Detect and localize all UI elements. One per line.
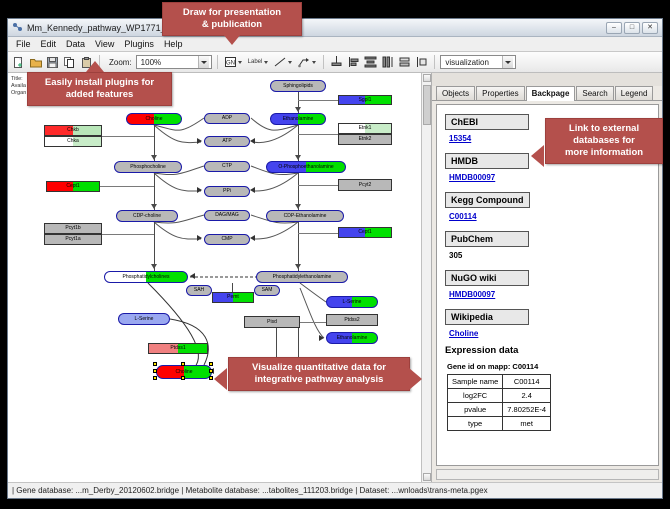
- db-section-title-wikipedia: Wikipedia: [445, 309, 529, 325]
- node-label: L-Serine: [343, 300, 362, 305]
- zoom-value: 100%: [139, 58, 198, 67]
- selection-handle[interactable]: [209, 362, 213, 366]
- arrow-pemt-to-pc: [190, 273, 195, 279]
- gene-node-pcyt1b[interactable]: Pcyt1b: [44, 223, 102, 234]
- arrow-from-cmp-right: [250, 235, 255, 241]
- expression-data-heading: Expression data: [445, 345, 650, 356]
- selection-handle[interactable]: [209, 376, 213, 380]
- group-icon[interactable]: [414, 55, 429, 70]
- node-label: Cept1: [358, 230, 371, 235]
- node-label: Pcyt1b: [65, 226, 80, 231]
- node-label: Choline: [176, 370, 193, 375]
- node-label: SAH: [194, 288, 204, 293]
- arrow-to-cmp: [197, 235, 202, 241]
- node-label: O-Phosphoethanolamine: [278, 165, 333, 170]
- arrow-to-ethanolamine-bottom: [319, 335, 324, 341]
- metabolite-node-cdp-ethanolamine[interactable]: CDP-Ethanolamine: [266, 210, 344, 222]
- db-link-wikipedia[interactable]: Choline: [449, 329, 650, 338]
- distribute-icon[interactable]: [363, 55, 378, 70]
- align-left-icon[interactable]: [346, 55, 361, 70]
- tab-search[interactable]: Search: [576, 86, 613, 100]
- connector-pisd: [300, 322, 326, 323]
- tab-legend[interactable]: Legend: [615, 86, 654, 100]
- node-label: SAM: [262, 288, 273, 293]
- arrow-to-ethanolamine: [295, 107, 301, 112]
- menu-item-file[interactable]: File: [11, 38, 36, 50]
- menu-item-help[interactable]: Help: [159, 38, 188, 50]
- node-label: Phosphocholine: [130, 165, 166, 170]
- db-link-nugo-wiki[interactable]: HMDB00097: [449, 290, 650, 299]
- status-text: | Gene database: ...m_Derby_20120602.bri…: [12, 486, 488, 495]
- close-button[interactable]: ✕: [642, 22, 658, 34]
- db-section-title-pubchem: PubChem: [445, 231, 529, 247]
- db-section-title-chebi: ChEBI: [445, 114, 529, 130]
- selection-handle[interactable]: [153, 362, 157, 366]
- db-section-title-kegg-compound: Kegg Compound: [445, 192, 530, 208]
- status-bar: | Gene database: ...m_Derby_20120602.bri…: [8, 482, 662, 498]
- node-label: Choline: [146, 117, 163, 122]
- node-label: Phosphatidylcholines: [123, 275, 170, 280]
- menu-item-data[interactable]: Data: [61, 38, 90, 50]
- draw-callout-pointer: [223, 34, 241, 45]
- gene-node-etnk2[interactable]: Etnk2: [338, 134, 392, 145]
- gene-node-pcyt2[interactable]: Pcyt2: [338, 179, 392, 191]
- metabolite-node-phosphatidylethanolamine[interactable]: Phosphatidylethanolamine: [256, 271, 348, 283]
- metabolite-node-atp[interactable]: ATP: [204, 136, 250, 147]
- flow-line-left: [154, 125, 155, 273]
- db-section-title-hmdb: HMDB: [445, 153, 529, 169]
- node-label: Pisd: [267, 320, 277, 325]
- pathvisio-icon: [12, 22, 23, 33]
- arrow-to-ope: [295, 155, 301, 160]
- chevron-down-icon[interactable]: [238, 61, 242, 64]
- selection-handle[interactable]: [209, 369, 213, 373]
- chevron-down-icon[interactable]: [502, 56, 513, 68]
- expression-row-name: pvalue: [448, 403, 503, 417]
- gene-node-sgpl1[interactable]: Sgpl1: [338, 95, 392, 105]
- gene-node-etnk1[interactable]: Etnk1: [338, 123, 392, 134]
- table-row: log2FC2.4: [448, 389, 551, 403]
- selection-handle[interactable]: [153, 376, 157, 380]
- expression-row-value: met: [503, 417, 551, 431]
- node-label: CMP: [221, 237, 232, 242]
- canvas-vertical-scrollbar[interactable]: [421, 73, 431, 482]
- node-label: Ethanolamine: [337, 336, 368, 341]
- node-label: DAG/MAG: [215, 213, 239, 218]
- node-label: Pemt: [227, 295, 239, 300]
- metabolite-node-phosphocholine[interactable]: Phosphocholine: [114, 161, 182, 173]
- menu-bar: File Edit Data View Plugins Help: [8, 37, 662, 52]
- node-label: Ethanolamine: [283, 117, 314, 122]
- table-row: Sample nameC00114: [448, 375, 551, 389]
- toolbar-separator: [434, 55, 435, 69]
- visualize-callout: Visualize quantitative data forintegrati…: [228, 357, 410, 391]
- gene-node-chkb[interactable]: Chkb: [44, 125, 102, 136]
- same-width-icon[interactable]: [380, 55, 395, 70]
- connector-chk: [102, 136, 154, 137]
- menu-item-plugins[interactable]: Plugins: [119, 38, 159, 50]
- expression-row-name: log2FC: [448, 389, 503, 403]
- arrow-from-ppi-right: [250, 187, 255, 193]
- links-callout-pointer: [531, 145, 544, 167]
- tab-properties[interactable]: Properties: [476, 86, 524, 100]
- node-label: ATP: [222, 139, 231, 144]
- svg-text:GN: GN: [226, 61, 235, 67]
- arrow-to-cdpcholine: [151, 204, 157, 209]
- visualize-callout-text: Visualize quantitative data forintegrati…: [252, 362, 386, 385]
- side-panel-horizontal-scrollbar[interactable]: [436, 469, 659, 480]
- node-label: Etnk1: [359, 126, 372, 131]
- minimize-button[interactable]: –: [606, 22, 622, 34]
- zoom-label: Zoom:: [109, 58, 132, 67]
- arrow-to-pe: [295, 264, 301, 269]
- arrow-from-atp-right: [250, 138, 255, 144]
- metabolite-node-sah-left[interactable]: SAH: [186, 285, 212, 296]
- meta-title: Title:: [11, 76, 26, 83]
- connector-cept1: [100, 186, 154, 187]
- db-value-pubchem: 305: [449, 251, 650, 260]
- gene-id-label: Gene id on mapp: C00114: [447, 362, 650, 371]
- metabolite-node-choline-top[interactable]: Choline: [126, 113, 182, 125]
- gene-node-pcyt1a[interactable]: Pcyt1a: [44, 234, 102, 245]
- meta-availability: Availa: [11, 83, 26, 90]
- links-callout-text: Link to externaldatabases formore inform…: [565, 123, 643, 158]
- plugins-callout-text: Easily install plugins foradded features: [45, 77, 154, 100]
- node-label: Sgpl1: [359, 98, 372, 103]
- toolbar-separator: [217, 55, 218, 69]
- db-link-hmdb[interactable]: HMDB00097: [449, 173, 650, 182]
- plugins-callout: Easily install plugins foradded features: [27, 72, 172, 106]
- chevron-down-icon[interactable]: [264, 61, 268, 64]
- node-label: Ptdss1: [170, 346, 185, 351]
- datanode-tool[interactable]: GN: [223, 56, 244, 68]
- metabolite-node-cdp-choline[interactable]: CDP-choline: [116, 210, 178, 222]
- side-panel-spacer: [432, 73, 662, 86]
- copy-icon[interactable]: [62, 55, 77, 70]
- expression-row-value: C00114: [503, 375, 551, 389]
- visualize-callout-pointer-left: [214, 368, 227, 390]
- chevron-down-icon[interactable]: [312, 61, 316, 64]
- metabolite-node-phosphatidylcholines[interactable]: Phosphatidylcholines: [104, 271, 188, 283]
- maximize-button[interactable]: □: [624, 22, 640, 34]
- label-tool[interactable]: Label: [246, 58, 271, 66]
- node-label: CDP-Ethanolamine: [284, 214, 327, 219]
- links-callout: Link to externaldatabases formore inform…: [545, 118, 663, 164]
- metabolite-node-sah-right[interactable]: SAM: [254, 285, 280, 296]
- node-label: Chka: [67, 139, 79, 144]
- connector-sgpl1: [298, 100, 338, 101]
- scroll-down-arrow[interactable]: [423, 473, 431, 481]
- metabolite-node-ethanolamine-bot[interactable]: Ethanolamine: [326, 332, 378, 344]
- metabolite-node-ppi[interactable]: PPi: [204, 186, 250, 197]
- arrow-to-ppi: [197, 187, 202, 193]
- node-label: Sphingolipids: [283, 84, 313, 89]
- connector-etnk: [298, 134, 338, 135]
- metabolite-node-adp[interactable]: ADP: [204, 113, 250, 124]
- expression-row-value: 2.4: [503, 389, 551, 403]
- metabolite-node-l-serine-left[interactable]: L-Serine: [118, 313, 170, 325]
- draw-callout: Draw for presentation& publication: [162, 2, 302, 36]
- gene-node-cept1[interactable]: Cept1: [46, 181, 100, 192]
- chevron-down-icon[interactable]: [288, 61, 292, 64]
- node-label: Chkb: [67, 128, 79, 133]
- connector-pcyt2: [298, 185, 338, 186]
- metabolite-node-o-phosphoethanolamine[interactable]: O-Phosphoethanolamine: [266, 161, 346, 173]
- expression-row-name: Sample name: [448, 375, 503, 389]
- node-label: ADP: [222, 116, 232, 121]
- node-label: Pcyt2: [359, 183, 372, 188]
- metabolite-node-l-serine-right[interactable]: L-Serine: [326, 296, 378, 308]
- arrow-to-cdpethanolamine: [295, 204, 301, 209]
- node-label: Ptdss2: [344, 318, 359, 323]
- open-folder-icon[interactable]: [28, 55, 43, 70]
- connector-cept1b: [298, 233, 338, 234]
- save-icon[interactable]: [45, 55, 60, 70]
- scroll-up-arrow[interactable]: [423, 74, 431, 82]
- node-label: Etnk2: [359, 137, 372, 142]
- arrow-to-atp: [197, 138, 202, 144]
- tab-backpage[interactable]: Backpage: [526, 86, 576, 101]
- menu-item-edit[interactable]: Edit: [36, 38, 62, 50]
- plugins-callout-pointer: [86, 61, 104, 72]
- selection-handle[interactable]: [181, 362, 185, 366]
- stack-icon[interactable]: [397, 55, 412, 70]
- expression-row-name: type: [448, 417, 503, 431]
- gene-node-ptdss1[interactable]: Ptdss1: [148, 343, 208, 354]
- arrow-to-phosphocholine: [151, 155, 157, 160]
- table-row: typemet: [448, 417, 551, 431]
- node-label: CTP: [222, 164, 232, 169]
- draw-callout-text: Draw for presentation& publication: [183, 7, 281, 30]
- node-label: Phosphatidylethanolamine: [273, 275, 332, 280]
- selection-handle[interactable]: [181, 376, 185, 380]
- metabolite-node-dag-mag[interactable]: DAG/MAG: [204, 210, 250, 221]
- expression-row-value: 7.80252E-4: [503, 403, 551, 417]
- align-center-icon[interactable]: [329, 55, 344, 70]
- arrow-to-pc: [151, 264, 157, 269]
- metabolite-node-ethanolamine-top[interactable]: Ethanolamine: [270, 113, 326, 125]
- interaction-tool[interactable]: [296, 56, 318, 69]
- window-controls[interactable]: – □ ✕: [606, 22, 658, 34]
- gene-node-pisd[interactable]: Pisd: [244, 316, 300, 328]
- menu-item-view[interactable]: View: [90, 38, 119, 50]
- chevron-down-icon[interactable]: [198, 56, 209, 68]
- visualization-value: visualization: [443, 58, 502, 67]
- expression-table: Sample nameC00114log2FC2.4pvalue7.80252E…: [447, 374, 551, 431]
- connector-pcyt1: [102, 234, 154, 235]
- pathway-canvas[interactable]: Title: Availa Organ: [8, 73, 432, 482]
- gene-node-cept1b[interactable]: Cept1: [338, 227, 392, 238]
- gene-node-pemt[interactable]: Pemt: [212, 292, 254, 303]
- node-label: L-Serine: [135, 317, 154, 322]
- node-label: PPi: [223, 189, 231, 194]
- zoom-combo[interactable]: 100%: [136, 55, 212, 69]
- toolbar: Zoom: 100% GN Label: [8, 52, 662, 73]
- toolbar-separator: [323, 55, 324, 69]
- label-tool-text: Label: [248, 59, 263, 65]
- table-row: pvalue7.80252E-4: [448, 403, 551, 417]
- flow-line-right: [298, 125, 299, 273]
- selection-handle[interactable]: [153, 369, 157, 373]
- gene-node-ptdss2[interactable]: Ptdss2: [326, 314, 378, 326]
- line-tool[interactable]: [272, 56, 294, 68]
- node-label: CDP-choline: [133, 214, 161, 219]
- pathway-meta: Title: Availa Organ: [11, 76, 26, 97]
- title-bar: Mm_Kennedy_pathway_WP1771_45176.gpml – □…: [8, 19, 662, 37]
- new-file-icon[interactable]: [11, 55, 26, 70]
- metabolite-node-ctp[interactable]: CTP: [204, 161, 250, 172]
- metabolite-node-cmp[interactable]: CMP: [204, 234, 250, 245]
- connector-pemt: [232, 283, 233, 292]
- metabolite-node-sphingolipids[interactable]: Sphingolipids: [270, 80, 326, 92]
- visualize-callout-pointer-right: [409, 368, 422, 390]
- visualization-combo[interactable]: visualization: [440, 55, 516, 69]
- side-panel-tabs: Objects Properties Backpage Search Legen…: [432, 86, 662, 101]
- node-label: Cept1: [66, 184, 79, 189]
- scrollbar-thumb[interactable]: [423, 85, 431, 125]
- db-section-title-nugo-wiki: NuGO wiki: [445, 270, 529, 286]
- meta-organism: Organ: [11, 90, 26, 97]
- gene-node-chka[interactable]: Chka: [44, 136, 102, 147]
- node-label: Pcyt1a: [65, 237, 80, 242]
- tab-objects[interactable]: Objects: [436, 86, 475, 100]
- db-link-kegg-compound[interactable]: C00114: [449, 212, 650, 221]
